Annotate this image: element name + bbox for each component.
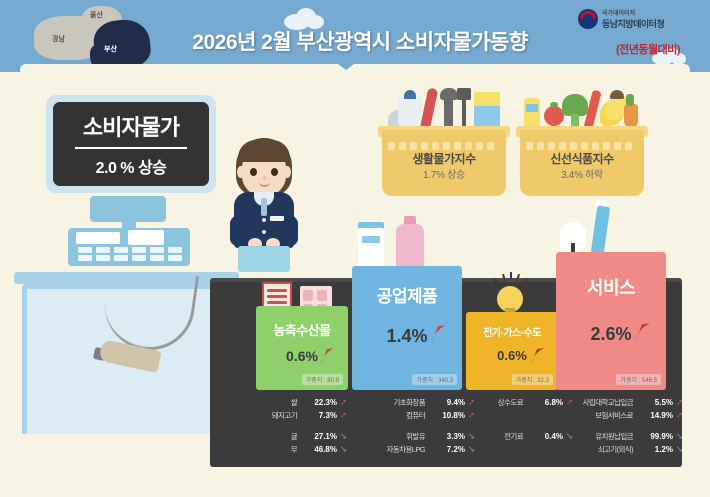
arrow-up-icon xyxy=(318,346,336,371)
detail-list-agri: 쌀22.3%➚ 돼지고기7.3%➚ 귤27.1%➘ 무46.8%➘ xyxy=(222,396,350,456)
cpi-divider xyxy=(75,147,187,149)
detail-row: 사립대학교납입금5.5%➚ xyxy=(546,396,686,409)
arrow-up-icon: ➚ xyxy=(465,398,478,407)
yoy-note: (전년동월대비) xyxy=(616,41,680,57)
bangs xyxy=(238,140,290,162)
arrow-down-icon: ➘ xyxy=(337,432,350,441)
register-screen xyxy=(90,196,166,222)
register-receipt-slot xyxy=(128,230,164,245)
arrow-up-icon xyxy=(528,346,546,371)
arm-right xyxy=(283,216,298,246)
nose xyxy=(263,176,266,180)
detail-list-industrial: 기초화장품9.4%➚ 컴퓨터10.8%➚ 휘발유3.3%➘ 자동차용LPG7.2… xyxy=(350,396,478,456)
infographic-root: 울산 경남 부산 2026년 2월 부산광역시 소비자물가동향 국가데이터처 동… xyxy=(0,0,710,497)
skirt xyxy=(238,246,290,272)
detail-list-services: 사립대학교납입금5.5%➚ 보험서비스료14.9%➚ 유치원납입금99.9%➘ … xyxy=(546,396,686,456)
arrow-up-icon xyxy=(632,321,652,348)
detail-row: 쌀22.3%➚ xyxy=(222,396,350,409)
cashier-character xyxy=(228,138,300,278)
arrow-down-icon: ➘ xyxy=(465,445,478,454)
basket-slats xyxy=(526,142,638,150)
detail-row: 기초화장품9.4%➚ xyxy=(350,396,478,409)
milk-label xyxy=(362,236,380,243)
basket-label-living-cost: 생활물가지수 xyxy=(382,150,506,167)
uniform-button xyxy=(262,218,266,222)
basket-living-cost: 생활물가지수 1.7% 상승 xyxy=(382,86,506,184)
arrow-up-icon: ➚ xyxy=(465,411,478,420)
light-ray xyxy=(510,272,512,279)
arrow-down-icon: ➘ xyxy=(673,445,686,454)
arrow-up-icon: ➚ xyxy=(337,398,350,407)
name-badge xyxy=(270,216,284,221)
header-notch xyxy=(330,58,362,70)
detail-row: 무46.8%➘ xyxy=(222,443,350,456)
category-weight-industrial: 가중치 : 340.3 xyxy=(412,374,457,385)
arm-left xyxy=(230,216,245,246)
eye-left xyxy=(250,168,257,176)
category-bar-agri: 농축수산물 0.6% 가중치 : 80.9 xyxy=(256,306,348,390)
agency-name-bottom: 동남지방데이터청 xyxy=(602,17,664,30)
cpi-value: 2.0 % 상승 xyxy=(96,154,167,178)
detergent-bottle-icon xyxy=(396,224,424,270)
map-label-ulsan: 울산 xyxy=(90,10,103,20)
milk-carton-icon xyxy=(358,228,384,268)
arrow-down-icon: ➘ xyxy=(465,432,478,441)
category-name-utilities: 전기·가스·수도 xyxy=(466,324,558,339)
basket-slats xyxy=(388,142,500,150)
category-name-services: 서비스 xyxy=(556,274,666,300)
basket-value-living-cost: 1.7% 상승 xyxy=(382,166,506,181)
detail-row: 돼지고기7.3%➚ xyxy=(222,409,350,422)
detail-row: 귤27.1%➘ xyxy=(222,430,350,443)
detail-row: 컴퓨터10.8%➚ xyxy=(350,409,478,422)
category-bar-industrial: 공업제품 1.4% 가중치 : 340.3 xyxy=(352,266,462,390)
category-bar-utilities: 전기·가스·수도 0.6% 가중치 : 32.3 xyxy=(466,312,558,390)
map-label-busan: 부산 xyxy=(104,44,117,54)
agency-name-top: 국가데이터처 xyxy=(602,8,635,17)
category-weight-services: 가중치 : 546.5 xyxy=(616,374,661,385)
arrow-down-icon: ➘ xyxy=(337,445,350,454)
register-body xyxy=(68,228,190,266)
cpi-title: 소비자물가 xyxy=(83,110,179,142)
category-bar-services: 서비스 2.6% 가중치 : 546.5 xyxy=(556,252,666,390)
region-map: 울산 경남 부산 xyxy=(28,2,158,72)
category-weight-utilities: 가중치 : 32.3 xyxy=(512,374,553,385)
arrow-up-icon xyxy=(428,323,448,350)
detail-row: 보험서비스료14.9%➚ xyxy=(546,409,686,422)
arrow-up-icon: ➚ xyxy=(673,398,686,407)
basket-value-fresh-food: 3.4% 하락 xyxy=(520,166,644,181)
map-label-gyeongnam: 경남 xyxy=(52,34,65,44)
basket-fresh-food: 신선식품지수 3.4% 하락 xyxy=(520,86,644,184)
tooth-icon xyxy=(560,222,586,252)
category-weight-agri: 가중치 : 80.9 xyxy=(302,374,343,385)
detail-row: 쇠고기(외식)1.2%➘ xyxy=(546,443,686,456)
basket-label-fresh-food: 신선식품지수 xyxy=(520,150,644,167)
agency-logo: 국가데이터처 동남지방데이터청 xyxy=(578,8,698,34)
arrow-up-icon: ➚ xyxy=(673,411,686,420)
category-name-agri: 농축수산물 xyxy=(256,320,348,339)
arrow-up-icon: ➚ xyxy=(337,411,350,420)
ear-left xyxy=(237,166,245,178)
detail-row: 자동차용LPG7.2%➘ xyxy=(350,443,478,456)
ear-right xyxy=(283,166,291,178)
category-name-industrial: 공업제품 xyxy=(352,282,462,307)
cpi-headline-card: 소비자물가 2.0 % 상승 xyxy=(46,95,216,193)
register-keypad xyxy=(78,247,182,261)
uniform-button xyxy=(262,230,266,234)
register-display xyxy=(76,232,120,244)
cpi-headline-inner: 소비자물가 2.0 % 상승 xyxy=(53,102,209,186)
detail-row: 유치원납입금99.9%➘ xyxy=(546,430,686,443)
page-title: 2026년 2월 부산광역시 소비자물가동향 xyxy=(160,26,560,56)
eye-right xyxy=(271,168,278,176)
scarf xyxy=(261,198,267,216)
cash-register xyxy=(68,196,190,274)
detail-row: 휘발유3.3%➘ xyxy=(350,430,478,443)
taegeuk-icon xyxy=(578,9,598,29)
arrow-down-icon: ➘ xyxy=(673,432,686,441)
